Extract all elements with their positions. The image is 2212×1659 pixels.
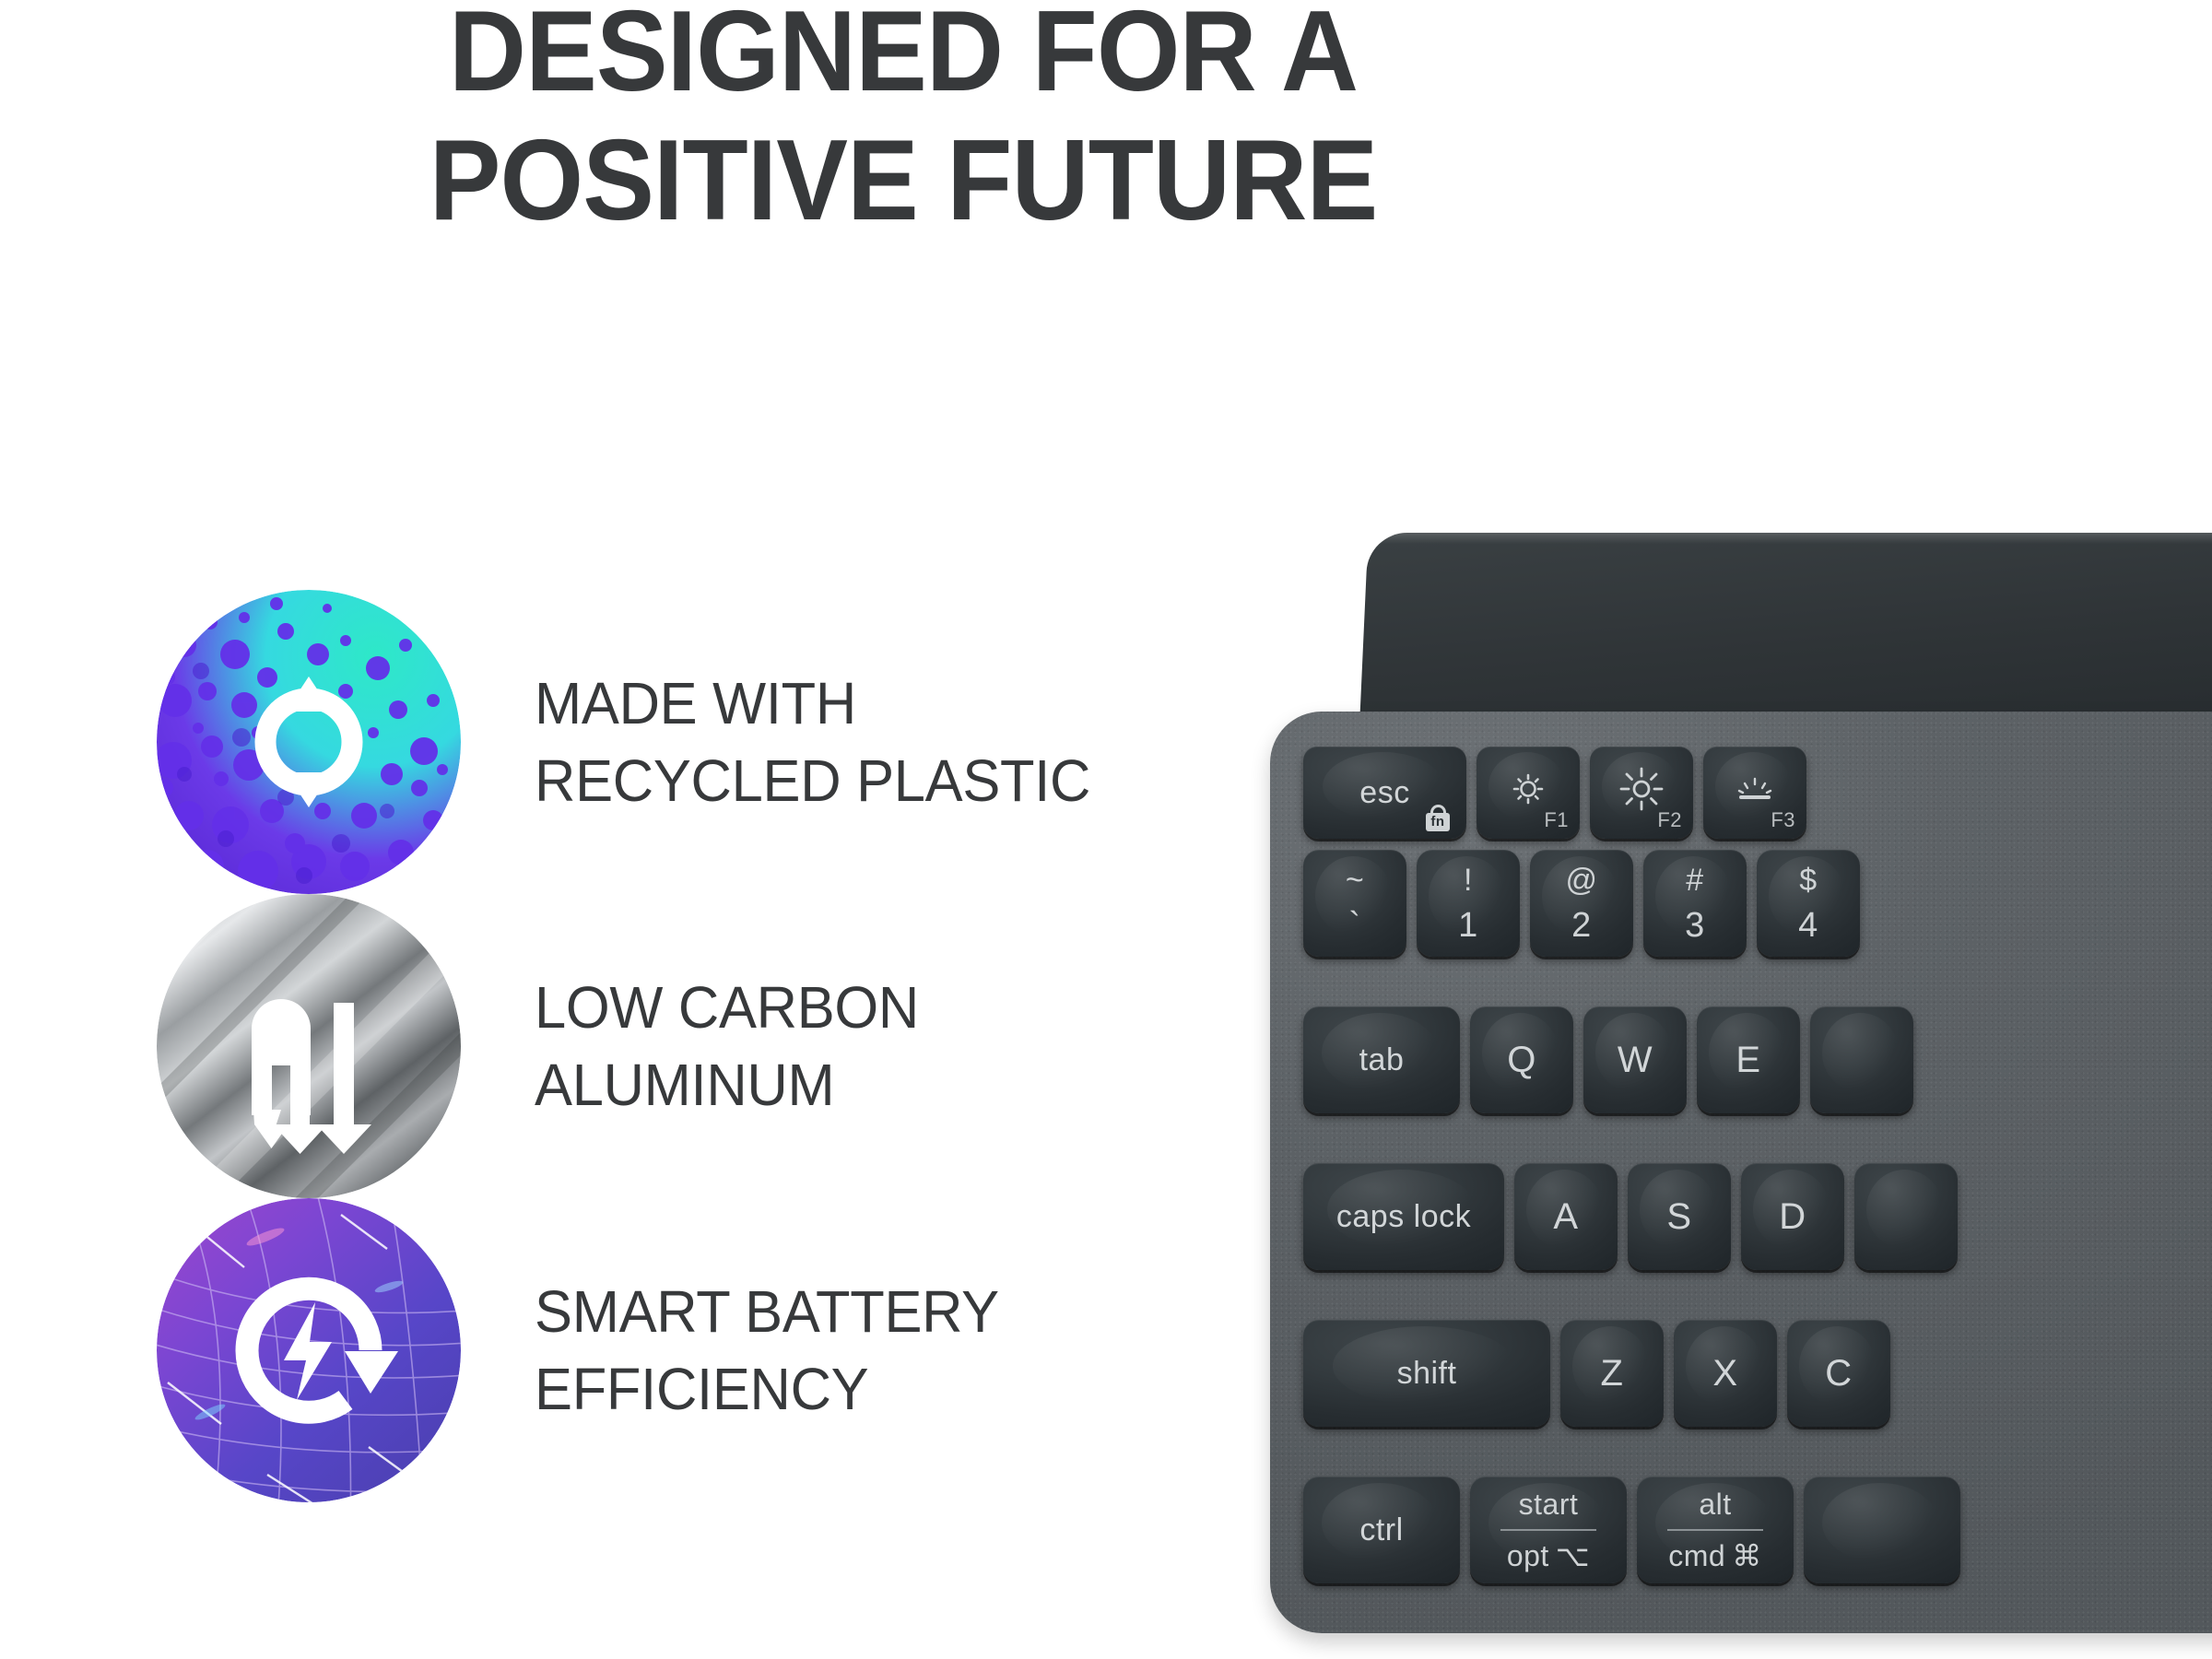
key-f2-legend: F2 bbox=[1657, 808, 1682, 832]
key-gloss bbox=[1866, 1170, 1943, 1249]
feature-item-recycled-plastic: MADE WITH RECYCLED PLASTIC bbox=[157, 590, 1198, 894]
key-legend: tab bbox=[1359, 1044, 1405, 1076]
key-d[interactable]: D bbox=[1741, 1163, 1844, 1270]
key-backtick[interactable]: ~ ` bbox=[1303, 850, 1406, 957]
key-divider bbox=[1500, 1529, 1596, 1531]
key-legend: @ 2 bbox=[1565, 865, 1597, 943]
key-base-legend: 3 bbox=[1685, 908, 1705, 943]
key-1[interactable]: ! 1 bbox=[1417, 850, 1520, 957]
key-bottom-legend: opt ⌥ bbox=[1507, 1531, 1590, 1571]
key-c-partial[interactable]: C bbox=[1787, 1320, 1890, 1427]
key-q[interactable]: Q bbox=[1470, 1006, 1573, 1113]
key-bottom-legend: cmd ⌘ bbox=[1668, 1531, 1761, 1571]
key-4[interactable]: $ 4 bbox=[1757, 850, 1860, 957]
key-gloss bbox=[1822, 1483, 1938, 1562]
key-f2[interactable]: F2 bbox=[1590, 747, 1693, 839]
keyboard-deck: esc fn bbox=[1270, 712, 2212, 1633]
keyboard-row-function: esc fn bbox=[1303, 747, 1806, 839]
key-legend: start opt ⌥ bbox=[1470, 1489, 1627, 1571]
key-ctrl[interactable]: ctrl bbox=[1303, 1477, 1460, 1583]
keyboard-row-modifiers: ctrl start opt ⌥ bbox=[1303, 1477, 1960, 1583]
key-alt-cmd[interactable]: alt cmd ⌘ bbox=[1637, 1477, 1794, 1583]
key-divider bbox=[1667, 1529, 1763, 1531]
key-2[interactable]: @ 2 bbox=[1530, 850, 1633, 957]
keyboard-row-home: caps lock A S D bbox=[1303, 1163, 1958, 1270]
key-top-legend: start bbox=[1519, 1489, 1579, 1529]
key-w[interactable]: W bbox=[1583, 1006, 1687, 1113]
key-start-opt[interactable]: start opt ⌥ bbox=[1470, 1477, 1627, 1583]
key-legend: D bbox=[1779, 1198, 1806, 1235]
key-base-legend: 2 bbox=[1571, 908, 1592, 943]
key-legend: ~ ` bbox=[1346, 865, 1364, 943]
key-shift[interactable]: shift bbox=[1303, 1320, 1550, 1427]
key-caps-lock[interactable]: caps lock bbox=[1303, 1163, 1504, 1270]
key-legend: Q bbox=[1507, 1041, 1536, 1078]
key-s[interactable]: S bbox=[1628, 1163, 1731, 1270]
product-feature-panel: DESIGNED FOR A POSITIVE FUTURE bbox=[0, 0, 2212, 1659]
feature-label-line-2: EFFICIENCY bbox=[535, 1350, 999, 1428]
feature-label-line-2: RECYCLED PLASTIC bbox=[535, 742, 1090, 819]
feature-label-low-carbon-aluminum: LOW CARBON ALUMINUM bbox=[535, 969, 919, 1124]
key-z[interactable]: Z bbox=[1560, 1320, 1664, 1427]
key-x[interactable]: X bbox=[1674, 1320, 1777, 1427]
key-legend: C bbox=[1825, 1355, 1852, 1392]
command-symbol-icon: ⌘ bbox=[1732, 1541, 1762, 1571]
keyboard-row-qwerty: tab Q W E bbox=[1303, 1006, 1913, 1113]
feature-label-line-1: LOW CARBON bbox=[535, 974, 919, 1041]
keyboard-back-panel bbox=[1359, 533, 2212, 726]
key-f1[interactable]: F1 bbox=[1477, 747, 1580, 839]
key-base-legend: 4 bbox=[1798, 908, 1818, 943]
key-tab[interactable]: tab bbox=[1303, 1006, 1460, 1113]
key-legend: ! 1 bbox=[1458, 865, 1478, 943]
keyboard-product-image: esc fn bbox=[1226, 498, 2212, 1659]
key-spacebar-partial[interactable] bbox=[1804, 1477, 1960, 1583]
key-f3[interactable]: F3 bbox=[1703, 747, 1806, 839]
keyboard-row-bottom-letters: shift Z X C bbox=[1303, 1320, 1890, 1427]
feature-list: MADE WITH RECYCLED PLASTIC bbox=[157, 590, 1198, 1502]
feature-label-recycled-plastic: MADE WITH RECYCLED PLASTIC bbox=[535, 665, 1090, 820]
keyboard-row-number: ~ ` ! 1 @ bbox=[1303, 850, 1860, 957]
key-legend: $ 4 bbox=[1798, 865, 1818, 943]
key-f3-legend: F3 bbox=[1771, 808, 1795, 832]
option-symbol-icon: ⌥ bbox=[1556, 1541, 1590, 1571]
feature-label-smart-battery-efficiency: SMART BATTERY EFFICIENCY bbox=[535, 1273, 999, 1429]
key-esc-label: esc bbox=[1359, 777, 1409, 808]
headline-line-1: DESIGNED FOR A bbox=[54, 0, 1752, 116]
key-base-legend: ` bbox=[1348, 908, 1360, 943]
key-legend: Z bbox=[1601, 1355, 1624, 1392]
key-cmd-label: cmd bbox=[1668, 1541, 1725, 1571]
key-e[interactable]: E bbox=[1697, 1006, 1800, 1113]
fn-lock-icon: fn bbox=[1422, 794, 1453, 831]
keyboard-key-rows: esc fn bbox=[1303, 747, 2212, 1633]
key-f-partial[interactable] bbox=[1854, 1163, 1958, 1270]
battery-efficiency-icon bbox=[157, 1198, 461, 1502]
feature-item-low-carbon-aluminum: LOW CARBON ALUMINUM bbox=[157, 894, 1198, 1198]
key-legend: shift bbox=[1397, 1358, 1457, 1389]
key-shifted-legend: # bbox=[1686, 865, 1703, 896]
headline-line-2: POSITIVE FUTURE bbox=[54, 116, 1752, 245]
key-a[interactable]: A bbox=[1514, 1163, 1618, 1270]
key-gloss bbox=[1822, 1013, 1899, 1092]
key-legend: alt cmd ⌘ bbox=[1637, 1489, 1794, 1571]
fn-lock-body: fn bbox=[1426, 813, 1450, 831]
key-legend: E bbox=[1735, 1041, 1760, 1078]
feature-item-smart-battery-efficiency: SMART BATTERY EFFICIENCY bbox=[157, 1198, 1198, 1502]
key-legend: W bbox=[1618, 1041, 1653, 1078]
feature-label-line-2: ALUMINUM bbox=[535, 1046, 919, 1124]
key-opt-label: opt bbox=[1507, 1541, 1549, 1571]
page-title: DESIGNED FOR A POSITIVE FUTURE bbox=[54, 0, 1752, 245]
brightness-down-icon bbox=[1507, 768, 1549, 818]
key-legend: # 3 bbox=[1685, 865, 1705, 943]
key-legend: ctrl bbox=[1359, 1514, 1403, 1546]
recycle-icon bbox=[157, 590, 461, 894]
key-esc[interactable]: esc fn bbox=[1303, 747, 1466, 839]
key-3[interactable]: # 3 bbox=[1643, 850, 1747, 957]
key-shifted-legend: @ bbox=[1565, 865, 1597, 896]
key-r-partial[interactable] bbox=[1810, 1006, 1913, 1113]
key-top-legend: alt bbox=[1699, 1489, 1731, 1529]
low-carbon-aluminum-icon bbox=[157, 894, 461, 1198]
key-shifted-legend: ~ bbox=[1346, 865, 1364, 896]
key-legend: S bbox=[1666, 1198, 1691, 1235]
lock-shackle bbox=[1430, 805, 1446, 813]
key-shifted-legend: $ bbox=[1799, 865, 1817, 896]
key-legend: X bbox=[1712, 1355, 1737, 1392]
key-base-legend: 1 bbox=[1458, 908, 1478, 943]
key-shifted-legend: ! bbox=[1464, 865, 1473, 896]
feature-label-line-1: SMART BATTERY bbox=[535, 1278, 999, 1345]
key-f1-legend: F1 bbox=[1544, 808, 1569, 832]
key-legend: caps lock bbox=[1336, 1201, 1471, 1232]
feature-label-line-1: MADE WITH bbox=[535, 670, 856, 736]
key-legend: A bbox=[1553, 1198, 1578, 1235]
